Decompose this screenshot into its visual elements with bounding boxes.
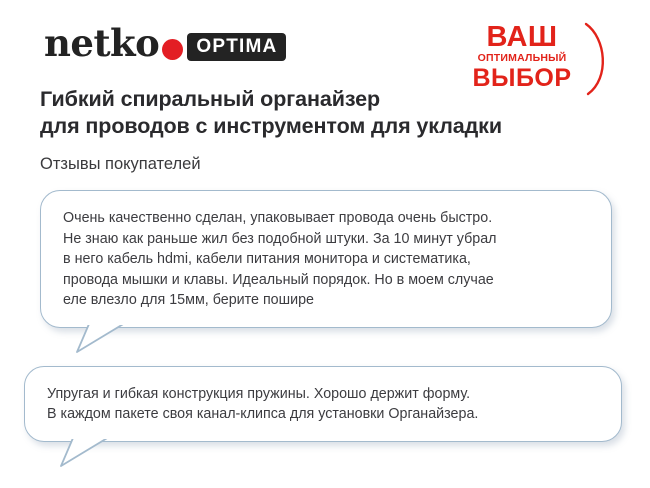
page-title-line1: Гибкий спиральный органайзер: [40, 86, 600, 113]
product-line-badge: OPTIMA: [187, 33, 286, 61]
reviews-section-heading: Отзывы покупателей: [40, 153, 201, 175]
review-item: Очень качественно сделан, упаковывает пр…: [40, 190, 612, 328]
reviews-list: Очень качественно сделан, упаковывает пр…: [0, 190, 650, 442]
choice-badge-text: ВАШ ОПТИМАЛЬНЫЙ ВЫБОР: [462, 22, 582, 91]
red-dot-icon: [162, 39, 183, 60]
page-header: netko OPTIMA ВАШ ОПТИМАЛЬНЫЙ ВЫБОР: [0, 0, 650, 86]
page-title-line2: для проводов с инструментом для укладки: [40, 113, 600, 140]
review-item: Упругая и гибкая конструкция пружины. Хо…: [24, 366, 622, 442]
choice-badge-line1: ВАШ: [462, 22, 582, 52]
speech-bubble-tail-icon: [59, 437, 115, 467]
product-promo-page: netko OPTIMA ВАШ ОПТИМАЛЬНЫЙ ВЫБОР Гибки…: [0, 0, 650, 488]
brand-name-text: netko: [44, 25, 159, 62]
review-text: Очень качественно сделан, упаковывает пр…: [63, 208, 589, 311]
page-title: Гибкий спиральный органайзер для проводо…: [40, 86, 600, 140]
speech-bubble-tail-icon: [75, 323, 131, 353]
review-text: Упругая и гибкая конструкция пружины. Хо…: [47, 384, 599, 425]
review-bubble: Очень качественно сделан, упаковывает пр…: [40, 190, 612, 328]
choice-badge: ВАШ ОПТИМАЛЬНЫЙ ВЫБОР: [462, 22, 622, 94]
review-bubble: Упругая и гибкая конструкция пружины. Хо…: [24, 366, 622, 442]
brand-logo: netko OPTIMA: [44, 24, 286, 64]
